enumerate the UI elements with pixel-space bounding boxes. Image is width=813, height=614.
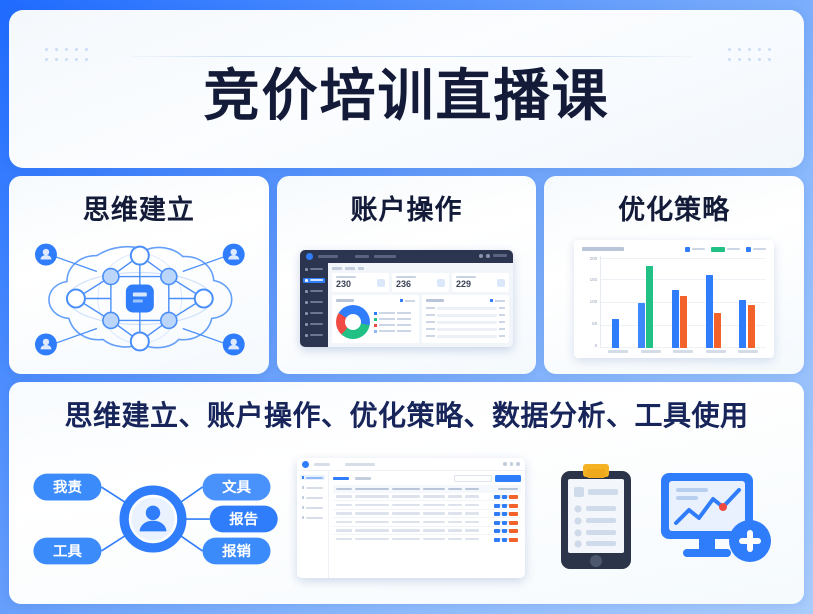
x-tick	[706, 350, 726, 353]
dashboard-screenshot: 230 236 229	[277, 231, 537, 374]
feature-card-title: 账户操作	[351, 188, 463, 227]
legend-item	[685, 247, 705, 252]
table-search	[454, 475, 521, 482]
y-tick: 0	[595, 343, 598, 348]
nav-item-placeholder	[355, 255, 369, 258]
row-actions[interactable]	[494, 495, 518, 498]
dashboard-topbar	[300, 250, 513, 263]
bar-chart: 200 150 100 50 0	[574, 240, 774, 358]
stat-icon	[497, 279, 505, 287]
search-input[interactable]	[454, 475, 492, 482]
table-topbar	[297, 458, 525, 471]
header-divider	[131, 56, 692, 57]
mindmap-node: 文具	[202, 474, 270, 501]
table-sidebar[interactable]	[297, 471, 329, 578]
chart-x-axis	[600, 348, 766, 353]
row-actions[interactable]	[494, 504, 518, 507]
monitor-chart-icon	[657, 463, 775, 573]
table-row[interactable]	[333, 501, 521, 510]
table-main	[329, 471, 525, 578]
mindmap-node: 报告	[210, 506, 278, 533]
mindmap-node-label: 我责	[53, 478, 82, 496]
chart-plot: 200 150 100 50 0	[582, 256, 766, 348]
mindmap-node-label: 工具	[53, 543, 82, 560]
stat-icon	[377, 279, 385, 287]
bottom-panel-title: 思维建立、账户操作、优化策略、数据分析、工具使用	[19, 394, 794, 434]
feature-cards-row: 思维建立	[9, 176, 804, 374]
sidebar-item[interactable]	[303, 311, 325, 316]
stat-value: 236	[396, 280, 416, 289]
sidebar-item[interactable]	[303, 333, 325, 338]
data-table	[333, 485, 521, 574]
nav-item-placeholder	[374, 255, 396, 258]
stat-cards-row: 230 236 229	[332, 273, 509, 293]
y-tick: 200	[590, 256, 598, 261]
legend-item	[746, 247, 766, 252]
mindmap-node-label: 报销	[222, 542, 251, 560]
stat-card[interactable]: 236	[392, 273, 449, 293]
chart-bars	[601, 256, 766, 348]
app-logo-icon	[302, 461, 309, 468]
mindmap-node-label: 报告	[229, 510, 258, 528]
feature-card-title: 思维建立	[83, 188, 195, 227]
bar-group	[638, 256, 654, 348]
table-row[interactable]	[333, 535, 521, 543]
header-banner: 竞价培训直播课	[9, 10, 804, 168]
feature-card-thinking[interactable]: 思维建立	[9, 176, 269, 374]
x-tick	[673, 350, 693, 353]
app-logo-icon	[306, 253, 313, 260]
poster-root: { "header": { "title": "竞价培训直播课", "decor…	[0, 0, 813, 614]
dashboard-main: 230 236 229	[328, 263, 513, 348]
search-button[interactable]	[495, 475, 521, 482]
stat-value: 230	[336, 280, 356, 289]
row-actions[interactable]	[494, 512, 518, 515]
feature-card-optimization[interactable]: 优化策略 200 150 100 50	[544, 176, 804, 374]
y-tick: 150	[590, 277, 598, 282]
table-mock	[297, 458, 525, 578]
sidebar-item-active[interactable]	[303, 278, 325, 283]
stat-value: 229	[456, 280, 476, 289]
y-tick: 100	[590, 299, 598, 304]
table-row[interactable]	[333, 518, 521, 527]
bar-group	[612, 256, 619, 348]
table-screenshot	[293, 440, 528, 596]
bar-group	[706, 256, 722, 348]
table-row[interactable]	[333, 527, 521, 536]
sidebar-item[interactable]	[300, 485, 325, 490]
chart-y-axis: 200 150 100 50 0	[582, 256, 600, 348]
breadcrumb	[332, 267, 509, 270]
page-title: 竞价培训直播课	[9, 66, 804, 126]
page-heading-placeholder	[345, 463, 375, 466]
table-header-row	[333, 485, 521, 493]
tab-active[interactable]	[333, 477, 349, 480]
app-name-placeholder	[314, 463, 330, 466]
app-name-placeholder	[318, 255, 338, 258]
mindmap-node: 报销	[202, 538, 270, 565]
mindmap-node: 工具	[33, 538, 101, 565]
chart-legend	[685, 247, 766, 252]
mindmap-node-label: 文具	[222, 478, 251, 496]
sidebar-item[interactable]	[300, 505, 325, 510]
sidebar-item[interactable]	[303, 300, 325, 305]
chart-title-placeholder	[582, 247, 624, 251]
donut-chart-icon	[336, 305, 370, 339]
table-tabs[interactable]	[333, 475, 521, 482]
legend-item	[711, 247, 740, 252]
x-tick	[641, 350, 661, 353]
feature-card-account[interactable]: 账户操作	[277, 176, 537, 374]
x-tick	[608, 350, 628, 353]
dot-grid-icon	[728, 48, 778, 68]
stat-card[interactable]: 230	[332, 273, 389, 293]
stat-icon	[437, 279, 445, 287]
bar-list-panel	[422, 295, 509, 343]
sidebar-item[interactable]	[303, 289, 325, 294]
sidebar-item[interactable]	[300, 495, 325, 500]
clipboard-checklist-icon	[553, 463, 639, 573]
sidebar-item[interactable]	[303, 322, 325, 327]
dashboard-body: 230 236 229	[300, 263, 513, 348]
bottom-content-row: 我责 工具 文具 报告 报销	[19, 440, 794, 596]
y-tick: 50	[592, 321, 597, 326]
bottom-panel: 思维建立、账户操作、优化策略、数据分析、工具使用 我责	[9, 382, 804, 604]
mindmap-illustration: 我责 工具 文具 报告 报销	[19, 440, 287, 596]
tab[interactable]	[355, 477, 371, 480]
row-actions[interactable]	[494, 538, 518, 541]
topbar-icons[interactable]	[503, 462, 520, 466]
topbar-icons	[479, 254, 507, 258]
row-actions[interactable]	[494, 529, 518, 532]
tool-icons	[534, 440, 794, 596]
network-diagram-icon	[9, 231, 269, 374]
sidebar-item[interactable]	[300, 515, 325, 520]
chart-plot-area	[600, 256, 766, 348]
dot-grid-icon	[45, 48, 95, 68]
row-actions[interactable]	[494, 521, 518, 524]
dashboard-panels	[332, 295, 509, 343]
mindmap-node: 我责	[33, 474, 101, 501]
table-row[interactable]	[333, 493, 521, 502]
table-body	[297, 471, 525, 578]
feature-card-title: 优化策略	[618, 188, 730, 227]
bar-group	[672, 256, 688, 348]
dashboard-mock: 230 236 229	[300, 250, 513, 348]
dashboard-sidebar[interactable]	[300, 263, 328, 348]
table-row[interactable]	[333, 510, 521, 519]
bar-group	[739, 256, 755, 348]
sidebar-item[interactable]	[303, 267, 325, 272]
bar-chart-screenshot: 200 150 100 50 0	[544, 231, 804, 374]
x-tick	[738, 350, 758, 353]
sidebar-item-active[interactable]	[300, 475, 325, 480]
chart-header	[582, 247, 766, 252]
donut-chart-panel	[332, 295, 419, 343]
stat-card[interactable]: 229	[452, 273, 509, 293]
